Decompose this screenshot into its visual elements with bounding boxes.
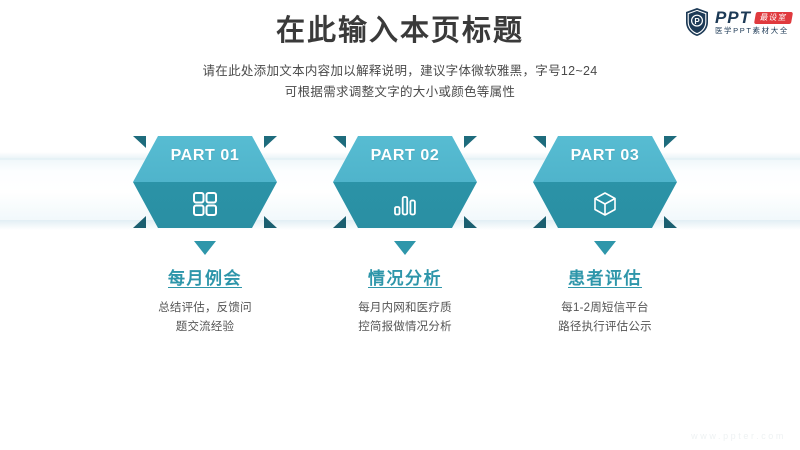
part-badge-label-3: PART 03: [533, 147, 677, 165]
part-description-line-2-2: 控简报做情况分析: [305, 318, 505, 336]
grid-2x2-icon: [133, 188, 277, 220]
cube-box-icon: [533, 188, 677, 220]
part-description-line-3-1: 每1-2周短信平台: [505, 299, 705, 317]
hexagon-badge-3[interactable]: PART 03: [533, 136, 677, 228]
part-description-line-2-1: 每月内网和医疗质: [305, 299, 505, 317]
part-title-2: 情况分析: [305, 269, 505, 289]
site-watermark: www.ppter.com: [691, 431, 786, 441]
part-description-2: 每月内网和医疗质 控简报做情况分析: [305, 299, 505, 336]
part-description-line-1-2: 题交流经验: [105, 318, 305, 336]
part-column-3: PART 03 患者评估 每1-2周短信平台 路径执行评估公示: [505, 136, 705, 336]
hexagon-badge-2[interactable]: PART 02: [333, 136, 477, 228]
down-arrow-2: [394, 241, 416, 255]
part-description-3: 每1-2周短信平台 路径执行评估公示: [505, 299, 705, 336]
part-badge-label-2: PART 02: [333, 147, 477, 165]
part-description-line-3-2: 路径执行评估公示: [505, 318, 705, 336]
part-badge-label-1: PART 01: [133, 147, 277, 165]
down-arrow-3: [594, 241, 616, 255]
part-title-3: 患者评估: [505, 269, 705, 289]
part-description-1: 总结评估，反馈问 题交流经验: [105, 299, 305, 336]
part-title-1: 每月例会: [105, 269, 305, 289]
part-description-line-1-1: 总结评估，反馈问: [105, 299, 305, 317]
parts-row: PART 01 每月例会 总结评估，反馈问 题交流经验: [0, 0, 800, 450]
part-column-1: PART 01 每月例会 总结评估，反馈问 题交流经验: [105, 136, 305, 336]
down-arrow-1: [194, 241, 216, 255]
part-column-2: PART 02 情况分析 每月内网和医疗质 控简报做情况分析: [305, 136, 505, 336]
hexagon-badge-1[interactable]: PART 01: [133, 136, 277, 228]
bar-chart-icon: [333, 188, 477, 220]
